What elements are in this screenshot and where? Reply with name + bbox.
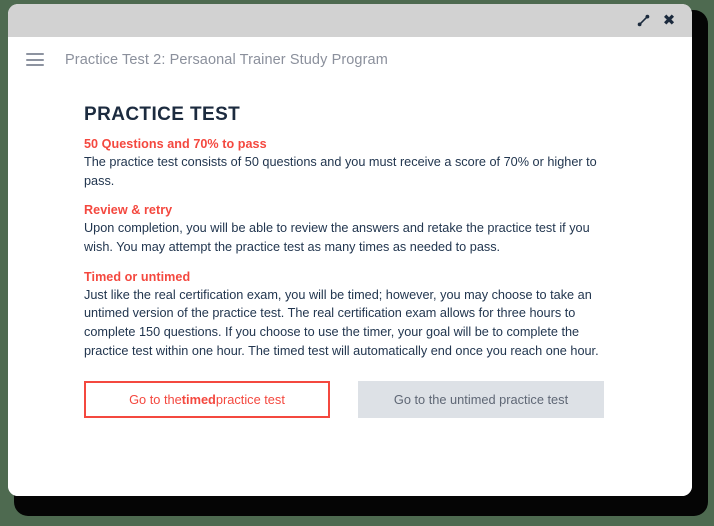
section-heading-review: Review & retry bbox=[84, 203, 614, 217]
section-heading-questions: 50 Questions and 70% to pass bbox=[84, 137, 614, 151]
page-title: PRACTICE TEST bbox=[84, 104, 614, 126]
app-header: Practice Test 2: Persaonal Trainer Study… bbox=[8, 37, 692, 82]
hamburger-line bbox=[26, 64, 44, 66]
window-titlebar: ✖ bbox=[8, 4, 692, 37]
untimed-button-label: Go to the untimed practice test bbox=[394, 392, 568, 407]
close-button[interactable]: ✖ bbox=[656, 8, 682, 34]
application-window: ✖ Practice Test 2: Persaonal Trainer Stu… bbox=[8, 4, 692, 496]
page-background: ✖ Practice Test 2: Persaonal Trainer Stu… bbox=[0, 0, 714, 526]
timed-button-suffix: practice test bbox=[216, 392, 285, 407]
go-to-timed-practice-test-button[interactable]: Go to the timed practice test bbox=[84, 381, 330, 418]
content-scroll-area[interactable]: PRACTICE TEST 50 Questions and 70% to pa… bbox=[8, 82, 692, 496]
section-body-questions: The practice test consists of 50 questio… bbox=[84, 153, 614, 190]
go-to-untimed-practice-test-button[interactable]: Go to the untimed practice test bbox=[358, 381, 604, 418]
content-body: PRACTICE TEST 50 Questions and 70% to pa… bbox=[8, 82, 674, 418]
expand-diagonal-icon[interactable] bbox=[630, 8, 656, 34]
hamburger-line bbox=[26, 59, 44, 61]
hamburger-line bbox=[26, 53, 44, 55]
close-icon: ✖ bbox=[663, 13, 676, 28]
hamburger-menu-icon[interactable] bbox=[26, 53, 44, 66]
timed-button-emphasis: timed bbox=[182, 392, 216, 407]
section-heading-timed: Timed or untimed bbox=[84, 270, 614, 284]
section-body-review: Upon completion, you will be able to rev… bbox=[84, 219, 614, 256]
section-body-timed: Just like the real certification exam, y… bbox=[84, 286, 614, 361]
course-title: Practice Test 2: Persaonal Trainer Study… bbox=[65, 52, 388, 68]
timed-button-prefix: Go to the bbox=[129, 392, 182, 407]
action-button-row: Go to the timed practice test Go to the … bbox=[84, 381, 614, 418]
